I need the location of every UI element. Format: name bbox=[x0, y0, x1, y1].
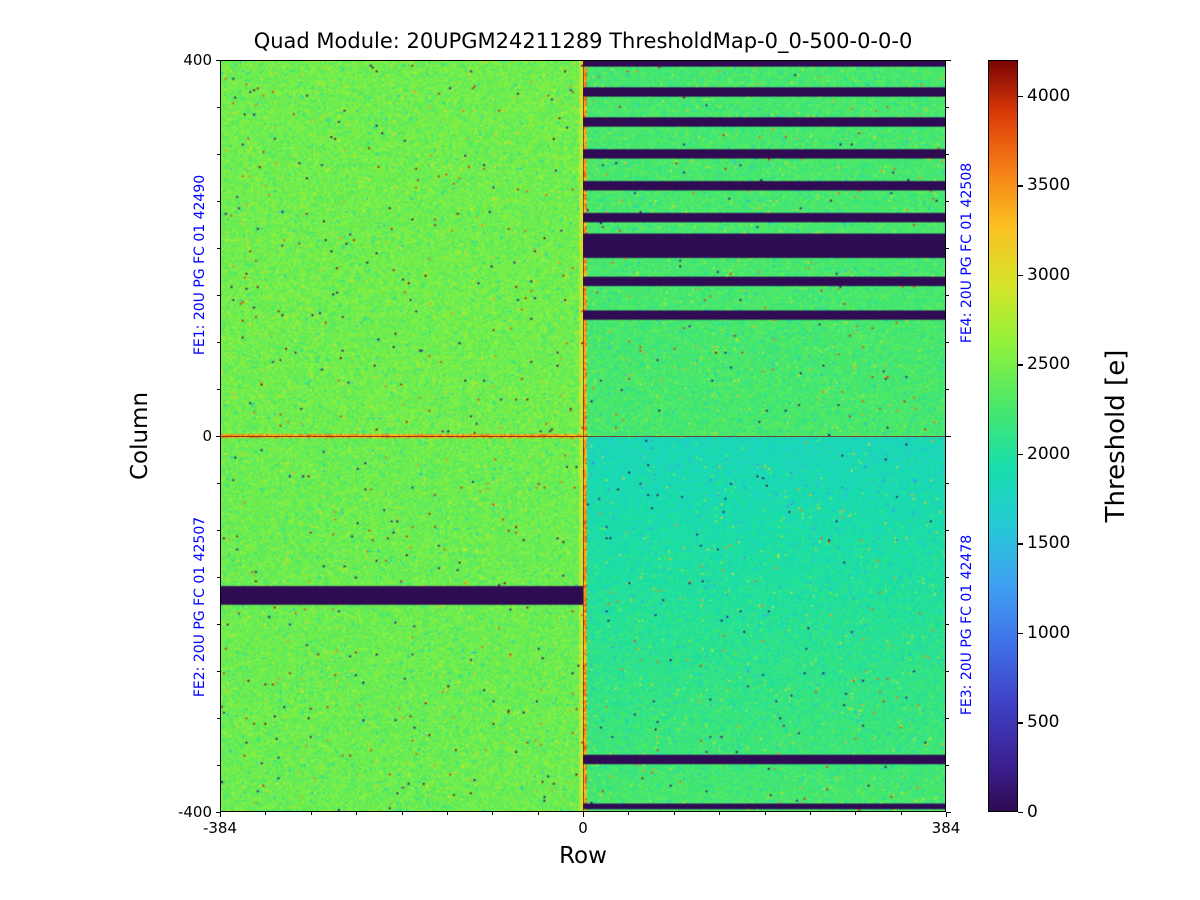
colorbar-tick bbox=[1018, 96, 1023, 97]
y-minor-tick bbox=[946, 107, 949, 108]
colorbar-tick-label: 3500 bbox=[1027, 175, 1070, 195]
colorbar-label: Threshold [e] bbox=[1101, 350, 1131, 523]
y-minor-tick bbox=[946, 295, 949, 296]
y-minor-tick bbox=[946, 483, 949, 484]
y-minor-tick bbox=[946, 342, 949, 343]
x-minor-tick bbox=[265, 812, 266, 815]
x-minor-tick bbox=[538, 812, 539, 815]
y-tick-label: 0 bbox=[202, 427, 212, 445]
colorbar-tick-label: 1000 bbox=[1027, 623, 1070, 643]
x-minor-tick bbox=[674, 812, 675, 815]
colorbar-tick bbox=[1018, 722, 1023, 723]
y-minor-tick bbox=[946, 530, 949, 531]
x-minor-tick bbox=[765, 812, 766, 815]
y-minor-tick bbox=[946, 154, 949, 155]
y-tick bbox=[216, 812, 221, 813]
y-minor-tick bbox=[946, 671, 949, 672]
colorbar-tick bbox=[1018, 185, 1023, 186]
quadrant-fe1-canvas bbox=[221, 61, 583, 436]
y-minor-tick bbox=[946, 718, 949, 719]
y-tick-label: -400 bbox=[178, 803, 212, 821]
quadrant-fe1 bbox=[221, 61, 583, 436]
quadrant-separator-vertical bbox=[583, 61, 584, 811]
x-minor-tick bbox=[810, 812, 811, 815]
quadrant-fe4 bbox=[583, 61, 945, 436]
colorbar-tick-label: 1500 bbox=[1027, 533, 1070, 553]
annotation-fe3: FE3: 20U PG FC 01 42478 bbox=[959, 535, 975, 715]
y-axis-label: Column bbox=[127, 392, 153, 480]
colorbar-tick-label: 2000 bbox=[1027, 444, 1070, 464]
colorbar-tick bbox=[1018, 275, 1023, 276]
quadrant-fe2 bbox=[221, 436, 583, 811]
quadrant-fe4-canvas bbox=[583, 61, 945, 436]
quadrant-fe2-canvas bbox=[221, 436, 583, 811]
colorbar-tick bbox=[1018, 543, 1023, 544]
x-minor-tick bbox=[719, 812, 720, 815]
colorbar bbox=[988, 60, 1018, 812]
colorbar-tick bbox=[1018, 364, 1023, 365]
quadrant-fe3 bbox=[583, 436, 945, 811]
x-tick-label: 0 bbox=[578, 819, 588, 837]
y-tick-right bbox=[946, 60, 951, 61]
y-minor-tick bbox=[946, 765, 949, 766]
x-minor-tick bbox=[356, 812, 357, 815]
y-tick-right bbox=[946, 436, 951, 437]
x-minor-tick bbox=[628, 812, 629, 815]
y-minor-tick bbox=[946, 201, 949, 202]
colorbar-tick-label: 0 bbox=[1027, 802, 1038, 822]
colorbar-tick-label: 500 bbox=[1027, 712, 1059, 732]
threshold-map-figure: Quad Module: 20UPGM24211289 ThresholdMap… bbox=[0, 0, 1200, 900]
colorbar-tick-label: 4000 bbox=[1027, 86, 1070, 106]
colorbar-tick bbox=[1018, 454, 1023, 455]
x-minor-tick bbox=[447, 812, 448, 815]
annotation-fe1: FE1: 20U PG FC 01 42490 bbox=[192, 175, 208, 355]
y-minor-tick bbox=[946, 248, 949, 249]
x-minor-tick bbox=[855, 812, 856, 815]
x-tick bbox=[583, 812, 584, 817]
x-tick bbox=[946, 812, 947, 817]
x-minor-tick bbox=[492, 812, 493, 815]
colorbar-tick-label: 2500 bbox=[1027, 354, 1070, 374]
x-axis-label: Row bbox=[559, 843, 607, 869]
x-minor-tick bbox=[402, 812, 403, 815]
quadrant-fe3-canvas bbox=[583, 436, 945, 811]
heatmap-axes bbox=[220, 60, 946, 812]
x-minor-tick bbox=[311, 812, 312, 815]
x-tick bbox=[220, 812, 221, 817]
y-minor-tick bbox=[946, 389, 949, 390]
annotation-fe4: FE4: 20U PG FC 01 42508 bbox=[959, 163, 975, 343]
x-tick-label: -384 bbox=[203, 819, 237, 837]
y-tick-right bbox=[946, 812, 951, 813]
colorbar-tick bbox=[1018, 633, 1023, 634]
colorbar-tick bbox=[1018, 812, 1023, 813]
y-minor-tick bbox=[946, 577, 949, 578]
annotation-fe2: FE2: 20U PG FC 01 42507 bbox=[192, 517, 208, 697]
colorbar-tick-label: 3000 bbox=[1027, 265, 1070, 285]
colorbar-gradient bbox=[989, 61, 1017, 811]
x-tick-label: 384 bbox=[932, 819, 961, 837]
x-minor-tick bbox=[901, 812, 902, 815]
y-minor-tick bbox=[946, 624, 949, 625]
y-tick-label: 400 bbox=[183, 51, 212, 69]
page-title: Quad Module: 20UPGM24211289 ThresholdMap… bbox=[220, 29, 946, 53]
